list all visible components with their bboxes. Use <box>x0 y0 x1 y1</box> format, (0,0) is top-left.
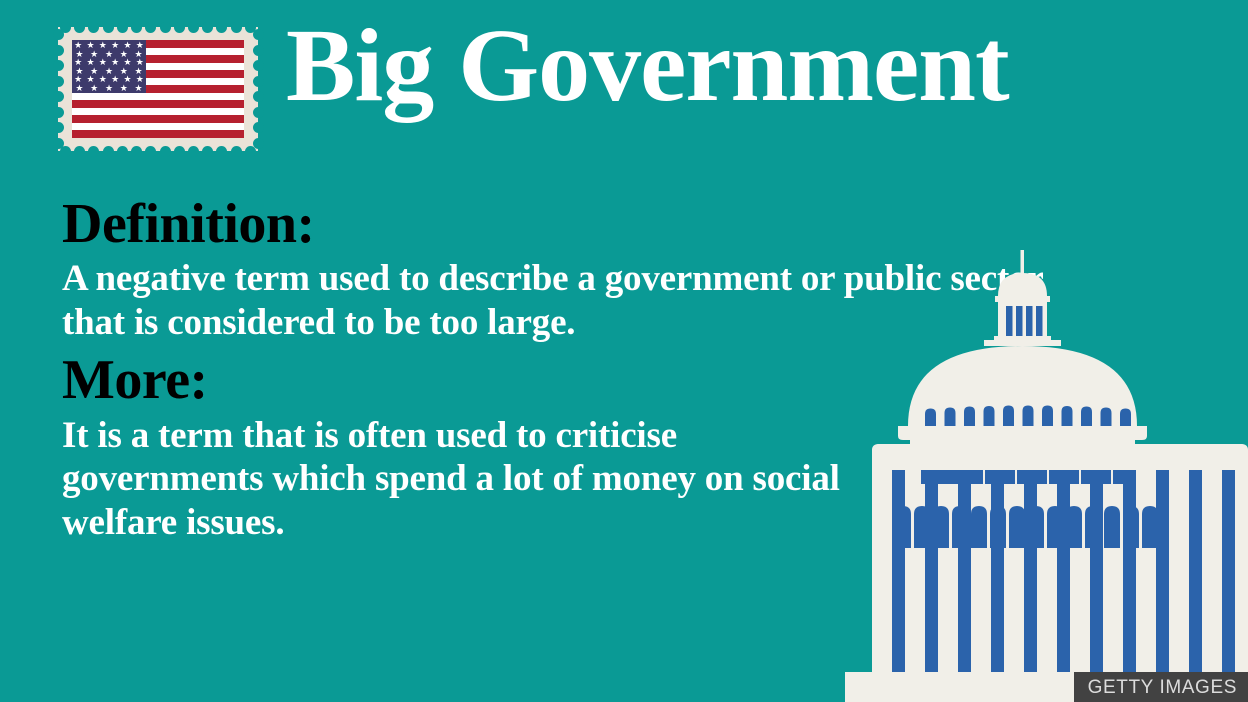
flag-graphic: ★★★★★★ ★★★★★ ★★★★★★ ★★★★★ ★★★★★★ ★★★★★ <box>72 40 244 138</box>
stamp-perforations-top <box>58 22 258 33</box>
header: ★★★★★★ ★★★★★ ★★★★★★ ★★★★★ ★★★★★★ ★★★★★ B… <box>0 0 1248 160</box>
definition-text: A negative term used to describe a gover… <box>62 257 1047 344</box>
more-text: It is a term that is often used to criti… <box>62 414 872 545</box>
content: Definition: A negative term used to desc… <box>62 196 1052 545</box>
getty-images-watermark: GETTY IMAGES <box>1074 672 1248 702</box>
stamp-perforations-left <box>53 27 64 151</box>
infographic-card: ★★★★★★ ★★★★★ ★★★★★★ ★★★★★ ★★★★★★ ★★★★★ B… <box>0 0 1248 702</box>
definition-heading: Definition: <box>62 196 1052 253</box>
more-heading: More: <box>62 352 1052 409</box>
page-title: Big Government <box>286 14 1009 118</box>
us-flag-stamp-icon: ★★★★★★ ★★★★★ ★★★★★★ ★★★★★ ★★★★★★ ★★★★★ <box>58 27 258 151</box>
watermark-label: GETTY IMAGES <box>1088 678 1237 697</box>
stamp-perforations-right <box>253 27 264 151</box>
stamp-perforations-bottom <box>58 146 258 157</box>
flag-canton: ★★★★★★ ★★★★★ ★★★★★★ ★★★★★ ★★★★★★ ★★★★★ <box>72 40 146 93</box>
